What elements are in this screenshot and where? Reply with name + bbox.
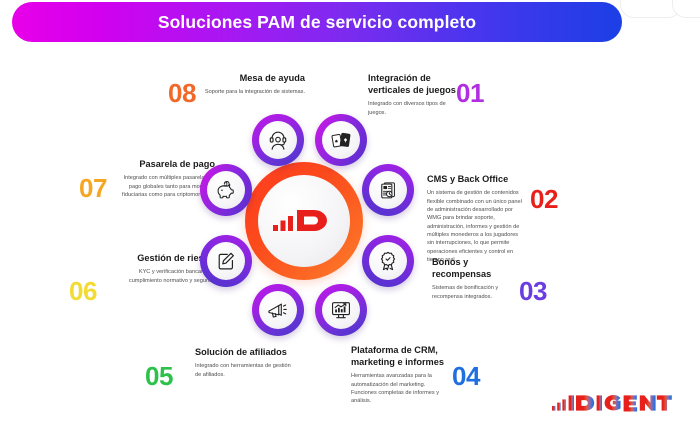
item-03-description: Sistemas de bonificación y recompensa in…	[432, 284, 512, 301]
item-02-number: 02	[530, 186, 558, 212]
digient-d-mark-icon	[273, 206, 335, 236]
analytics-monitor-icon	[330, 299, 352, 321]
item-08-description: Soporte para la integración de sistemas.	[200, 88, 305, 96]
infographic-canvas: Soluciones PAM de servicio completo Mesa…	[0, 0, 700, 423]
item-02-title: CMS y Back Office	[427, 173, 525, 185]
item-04-description: Herramientas avanzadas para la automatiz…	[351, 372, 451, 406]
item-06-number: 06	[69, 278, 97, 304]
item-01-number: 01	[456, 80, 484, 106]
document-report-icon	[377, 179, 399, 201]
bubble-face	[322, 121, 360, 159]
solutions-wheel	[195, 112, 430, 337]
item-05-description: Integrado con herramientas de gestión de…	[195, 362, 295, 379]
item-03-title: Bonos y recompensas	[432, 256, 512, 280]
center-hub	[245, 162, 363, 280]
item-02-text: CMS y Back Office Un sistema de gestión …	[427, 173, 525, 265]
digient-brand-logo: DIGIENT	[552, 390, 688, 416]
header-banner: Soluciones PAM de servicio completo	[12, 2, 622, 42]
award-ribbon-icon	[377, 250, 399, 272]
bubble-item-01[interactable]	[315, 114, 367, 166]
bubble-face	[207, 171, 245, 209]
bubble-face	[259, 121, 297, 159]
item-01-text: Integración de verticales de juegos Inte…	[368, 72, 456, 117]
bubble-item-04[interactable]	[315, 284, 367, 336]
bubble-face	[369, 242, 407, 280]
item-05-title: Solución de afiliados	[195, 346, 295, 358]
bubble-item-02[interactable]	[362, 164, 414, 216]
item-03-text: Bonos y recompensas Sistemas de bonifica…	[432, 256, 512, 301]
item-04-text: Plataforma de CRM, marketing e informes …	[351, 344, 451, 406]
document-pencil-icon	[215, 250, 237, 272]
item-08-text: Mesa de ayuda Soporte para la integració…	[200, 72, 305, 97]
item-04-number: 04	[452, 363, 480, 389]
playing-cards-icon	[330, 129, 352, 151]
piggy-bank-icon	[215, 179, 237, 201]
item-07-number: 07	[79, 175, 107, 201]
bubble-face	[369, 171, 407, 209]
bubble-face	[207, 242, 245, 280]
item-05-text: Solución de afiliados Integrado con herr…	[195, 346, 295, 379]
page-title: Soluciones PAM de servicio completo	[158, 12, 476, 33]
bubble-face	[259, 291, 297, 329]
bubble-face	[322, 291, 360, 329]
item-05-number: 05	[145, 363, 173, 389]
item-03-number: 03	[519, 278, 547, 304]
bubble-item-05[interactable]	[252, 284, 304, 336]
item-04-title: Plataforma de CRM, marketing e informes	[351, 344, 451, 368]
item-08-title: Mesa de ayuda	[200, 72, 305, 84]
item-08-number: 08	[168, 80, 196, 106]
center-hub-inner	[258, 175, 350, 267]
bubble-item-03[interactable]	[362, 235, 414, 287]
item-02-description: Un sistema de gestión de contenidos flex…	[427, 189, 525, 265]
item-01-title: Integración de verticales de juegos	[368, 72, 456, 96]
megaphone-icon	[267, 299, 289, 321]
bubble-item-06[interactable]	[200, 235, 252, 287]
bubble-item-08[interactable]	[252, 114, 304, 166]
headset-support-icon	[267, 129, 289, 151]
bubble-item-07[interactable]	[200, 164, 252, 216]
